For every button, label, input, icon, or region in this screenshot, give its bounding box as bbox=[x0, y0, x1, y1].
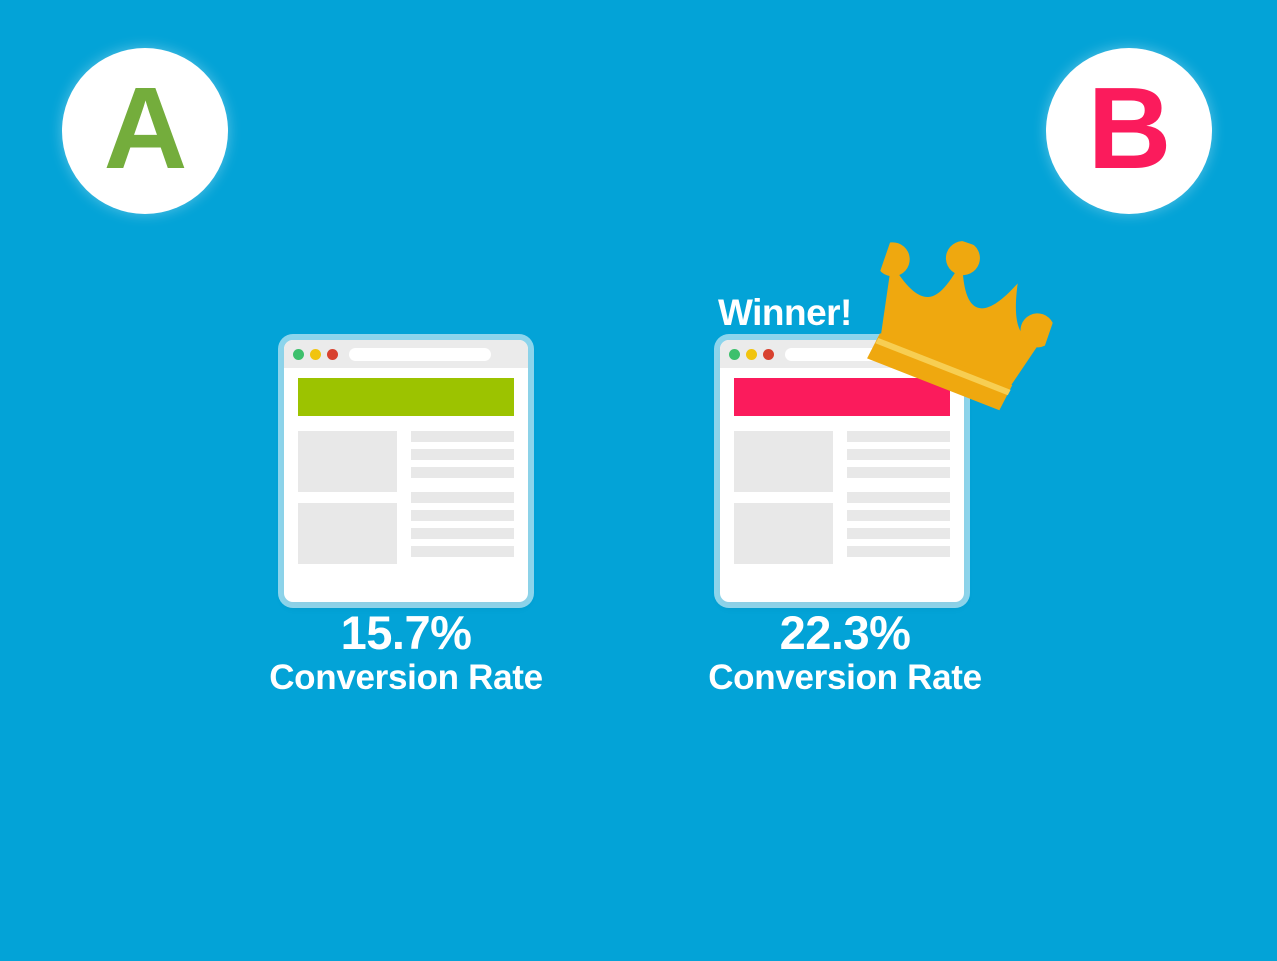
text-line-placeholder bbox=[847, 528, 950, 539]
variant-b-badge: B bbox=[1046, 48, 1212, 214]
window-maximize-dot-red-icon[interactable] bbox=[327, 349, 338, 360]
text-line-placeholder bbox=[411, 449, 514, 460]
hero-banner bbox=[734, 378, 950, 416]
browser-titlebar bbox=[284, 340, 528, 368]
variant-a-browser-mockup[interactable] bbox=[284, 340, 528, 602]
variant-b-stats: 22.3% Conversion Rate bbox=[635, 608, 1055, 697]
winner-label: Winner! bbox=[718, 292, 852, 334]
variant-a-badge-letter: A bbox=[104, 70, 187, 186]
text-line-placeholder bbox=[411, 467, 514, 478]
image-placeholder bbox=[734, 431, 833, 492]
page-viewport bbox=[720, 368, 964, 602]
image-placeholder bbox=[298, 503, 397, 564]
window-minimize-dot-yellow-icon[interactable] bbox=[310, 349, 321, 360]
text-line-placeholder bbox=[411, 492, 514, 503]
window-minimize-dot-yellow-icon[interactable] bbox=[746, 349, 757, 360]
text-line-placeholder bbox=[411, 510, 514, 521]
variant-b-badge-letter: B bbox=[1088, 70, 1171, 186]
text-line-placeholder bbox=[847, 467, 950, 478]
ab-test-graphic: A B bbox=[0, 0, 1277, 961]
image-placeholder bbox=[298, 431, 397, 492]
text-line-placeholder bbox=[411, 528, 514, 539]
window-maximize-dot-red-icon[interactable] bbox=[763, 349, 774, 360]
image-column bbox=[734, 431, 833, 564]
text-column bbox=[411, 431, 514, 564]
variant-a-conversion-value: 15.7% bbox=[196, 608, 616, 658]
variant-b-panel bbox=[720, 340, 964, 602]
address-bar[interactable] bbox=[349, 348, 491, 361]
text-line-placeholder bbox=[847, 431, 950, 442]
variant-a-panel bbox=[284, 340, 528, 602]
address-bar[interactable] bbox=[785, 348, 927, 361]
variant-a-stats: 15.7% Conversion Rate bbox=[196, 608, 616, 697]
variant-b-conversion-label: Conversion Rate bbox=[635, 658, 1055, 697]
page-viewport bbox=[284, 368, 528, 602]
text-line-placeholder bbox=[847, 492, 950, 503]
window-controls bbox=[293, 349, 338, 360]
text-line-placeholder bbox=[411, 546, 514, 557]
text-line-placeholder bbox=[847, 546, 950, 557]
window-controls bbox=[729, 349, 774, 360]
variant-b-conversion-value: 22.3% bbox=[635, 608, 1055, 658]
window-close-dot-green-icon[interactable] bbox=[293, 349, 304, 360]
browser-titlebar bbox=[720, 340, 964, 368]
image-placeholder bbox=[734, 503, 833, 564]
variant-b-browser-mockup[interactable] bbox=[720, 340, 964, 602]
image-column bbox=[298, 431, 397, 564]
page-content bbox=[298, 431, 514, 564]
variant-a-conversion-label: Conversion Rate bbox=[196, 658, 616, 697]
page-content bbox=[734, 431, 950, 564]
text-column bbox=[847, 431, 950, 564]
hero-banner bbox=[298, 378, 514, 416]
text-line-placeholder bbox=[411, 431, 514, 442]
variant-a-badge: A bbox=[62, 48, 228, 214]
text-line-placeholder bbox=[847, 449, 950, 460]
window-close-dot-green-icon[interactable] bbox=[729, 349, 740, 360]
text-line-placeholder bbox=[847, 510, 950, 521]
